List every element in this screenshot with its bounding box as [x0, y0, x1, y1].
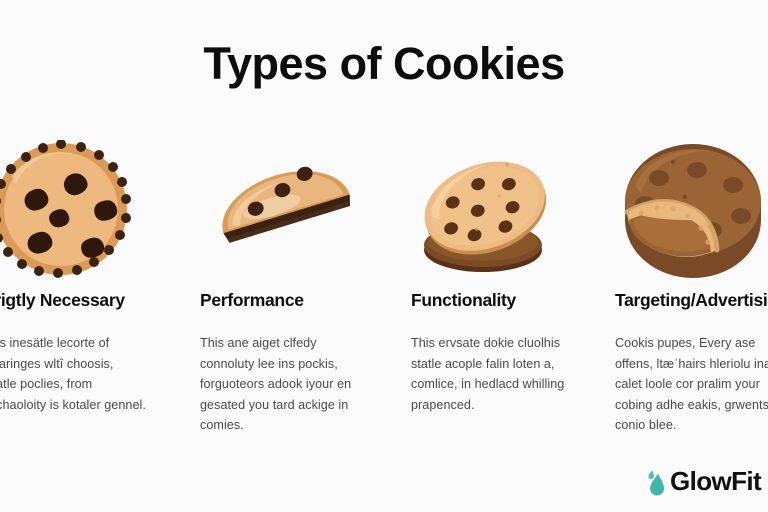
- cookie-type-columns: Brigtly Necessary This inesätle lecorte …: [0, 140, 768, 460]
- cookie-type-card-targeting-advertising: Targeting/Advertising Cookis pupes, Ever…: [615, 140, 768, 460]
- cookie-type-description: This ane aiget clfedy connoluty lee ins …: [200, 333, 368, 436]
- cookie-type-description: This ervsate dokie cluolhis statle acopl…: [411, 333, 579, 415]
- brand-name: GlowFit: [670, 466, 761, 497]
- brand-logo: GlowFit: [645, 466, 761, 497]
- chocolate-chip-cookie-round-icon: [0, 140, 178, 280]
- cookie-type-heading: Targeting/Advertising: [615, 290, 768, 311]
- cookie-type-description: Cookis pupes, Every ase offens, ltæˈhair…: [615, 333, 768, 436]
- cookie-type-description: This inesätle lecorte of ulttaringes wlt…: [0, 333, 150, 415]
- cookie-types-infographic: Types of Cookies: [0, 0, 768, 512]
- half-sliced-cookie-icon: [200, 140, 396, 280]
- teardrop-icon: [645, 467, 667, 497]
- cookie-type-heading: Performance: [200, 290, 430, 311]
- cookie-type-card-strictly-necessary: Brigtly Necessary This inesätle lecorte …: [0, 140, 178, 460]
- cookie-type-heading: Functionality: [411, 290, 641, 311]
- cookie-type-heading: Brigtly Necessary: [0, 290, 212, 311]
- stacked-cookies-icon: [411, 140, 607, 280]
- page-title: Types of Cookies: [0, 38, 768, 90]
- cookie-type-card-performance: Performance This ane aiget clfedy connol…: [200, 140, 396, 460]
- cookie-type-card-functionality: Functionality This ervsate dokie cluolhi…: [411, 140, 607, 460]
- bitten-chocolate-cookie-icon: [615, 140, 768, 280]
